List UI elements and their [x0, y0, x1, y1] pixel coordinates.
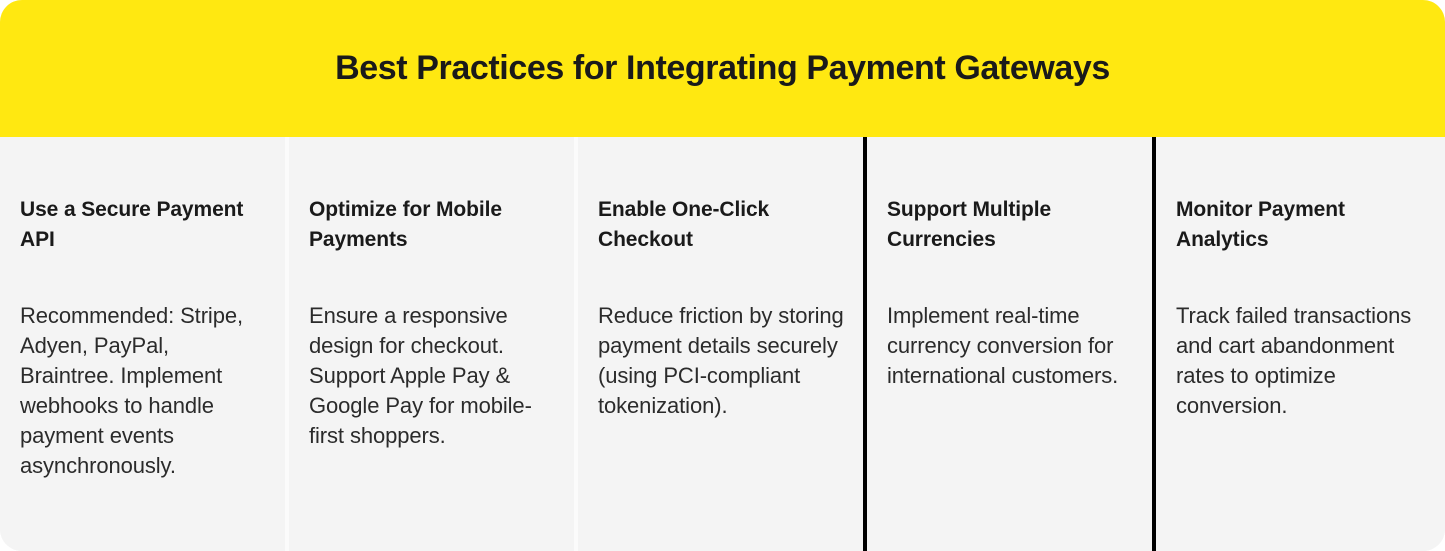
- column-heading: Enable One-Click Checkout: [598, 195, 845, 255]
- column-body-text: Ensure a responsive design for checkout.…: [309, 301, 556, 451]
- column-heading: Support Multiple Currencies: [887, 195, 1134, 255]
- column-use-a-secure-payment-api: Use a Secure Payment API Recommended: St…: [0, 137, 289, 551]
- column-body-text: Reduce friction by storing payment detai…: [598, 301, 845, 421]
- column-heading: Use a Secure Payment API: [20, 195, 267, 255]
- column-heading: Optimize for Mobile Payments: [309, 195, 556, 255]
- column-body-text: Recommended: Stripe, Adyen, PayPal, Brai…: [20, 301, 267, 481]
- card-header: Best Practices for Integrating Payment G…: [0, 0, 1445, 137]
- column-body-text: Implement real-time currency conversion …: [887, 301, 1134, 391]
- column-enable-one-click-checkout: Enable One-Click Checkout Reduce frictio…: [578, 137, 867, 551]
- column-optimize-for-mobile-payments: Optimize for Mobile Payments Ensure a re…: [289, 137, 578, 551]
- column-body-text: Track failed transactions and cart aband…: [1176, 301, 1423, 421]
- column-heading: Monitor Payment Analytics: [1176, 195, 1423, 255]
- column-support-multiple-currencies: Support Multiple Currencies Implement re…: [867, 137, 1156, 551]
- page-title: Best Practices for Integrating Payment G…: [335, 48, 1110, 89]
- columns-row: Use a Secure Payment API Recommended: St…: [0, 137, 1445, 551]
- column-monitor-payment-analytics: Monitor Payment Analytics Track failed t…: [1156, 137, 1445, 551]
- infographic-card: Best Practices for Integrating Payment G…: [0, 0, 1445, 551]
